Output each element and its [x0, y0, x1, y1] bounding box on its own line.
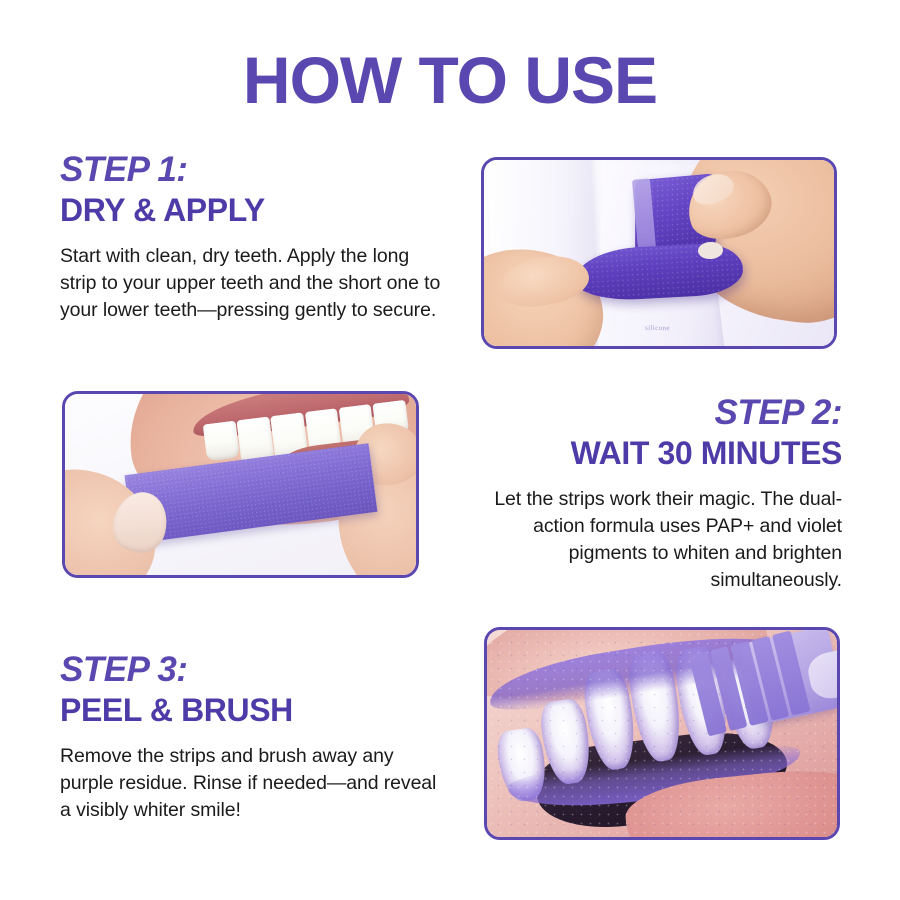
- step-3-body: Remove the strips and brush away any pur…: [60, 743, 450, 824]
- step-2-photo-inner: [65, 394, 416, 575]
- step-2-heading: WAIT 30 MINUTES: [450, 434, 842, 472]
- step-2-photo: [62, 391, 419, 578]
- long-strip-notch: [697, 241, 722, 259]
- step-3-kicker: STEP 3:: [60, 650, 450, 689]
- step-1-text-block: STEP 1: DRY & APPLY Start with clean, dr…: [60, 150, 450, 324]
- step-2-text-block: STEP 2: WAIT 30 MINUTES Let the strips w…: [450, 393, 842, 594]
- step-1-photo: silicone silicone: [481, 157, 837, 349]
- infographic-page: HOW TO USE STEP 1: DRY & APPLY Start wit…: [0, 0, 900, 900]
- step-3-photo-inner: [487, 630, 837, 837]
- tooth: [203, 421, 240, 462]
- step-1-photo-inner: silicone silicone: [484, 160, 834, 346]
- step-3-text-block: STEP 3: PEEL & BRUSH Remove the strips a…: [60, 650, 450, 824]
- step-2-kicker: STEP 2:: [450, 393, 842, 432]
- step-3-photo: [484, 627, 840, 840]
- packaging-text-right: silicone: [645, 323, 670, 331]
- step-1-body: Start with clean, dry teeth. Apply the l…: [60, 243, 450, 324]
- page-title: HOW TO USE: [0, 44, 900, 116]
- step-3-heading: PEEL & BRUSH: [60, 691, 450, 729]
- step-1-heading: DRY & APPLY: [60, 191, 450, 229]
- step-1-kicker: STEP 1:: [60, 150, 450, 189]
- step-2-body: Let the strips work their magic. The dua…: [450, 486, 842, 594]
